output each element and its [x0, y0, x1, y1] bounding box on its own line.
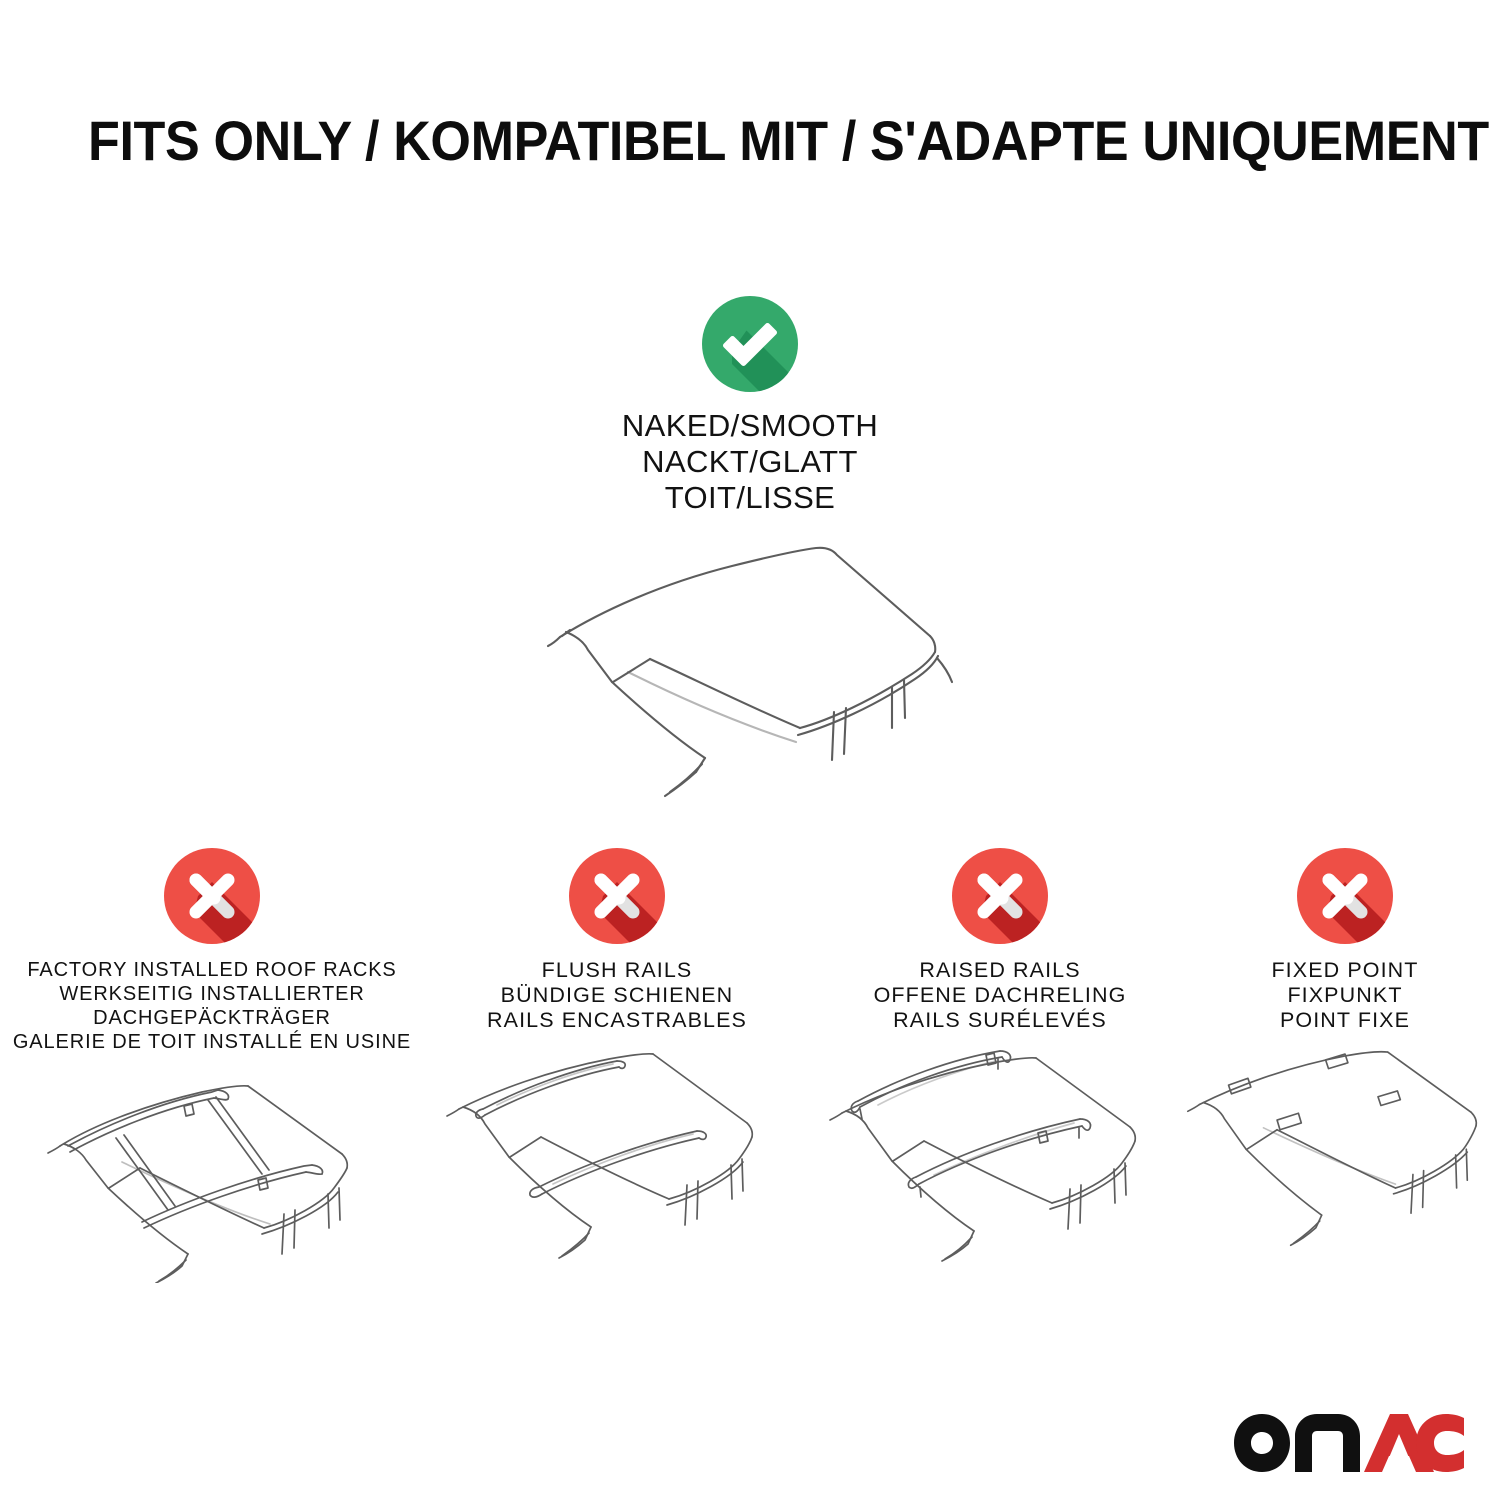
caption-line-de: BÜNDIGE SCHIENEN [487, 983, 747, 1008]
caption-line-fr: RAILS ENCASTRABLES [487, 1008, 747, 1033]
caption-line-en: FACTORY INSTALLED ROOF RACKS [13, 958, 411, 982]
car-roof-raised-rails-illustration [800, 1047, 1200, 1262]
cross-circle-icon [164, 848, 260, 944]
caption-line-en: FIXED POINT [1271, 958, 1418, 983]
approved-roof-type: NAKED/SMOOTH NACKT/GLATT TOIT/LISSE [0, 296, 1500, 812]
approved-caption: NAKED/SMOOTH NACKT/GLATT TOIT/LISSE [622, 408, 878, 516]
cross-circle-icon [952, 848, 1048, 944]
rejected-item-flush-rails: FLUSH RAILS BÜNDIGE SCHIENEN RAILS ENCAS… [424, 848, 810, 1262]
page-title: FITS ONLY / KOMPATIBEL MIT / S'ADAPTE UN… [88, 112, 1325, 170]
logo-letter-o [1234, 1414, 1290, 1472]
car-roof-naked-smooth-illustration [500, 532, 1000, 812]
caption-line-de: OFFENE DACHRELING [874, 983, 1127, 1008]
rejected-caption: FLUSH RAILS BÜNDIGE SCHIENEN RAILS ENCAS… [487, 958, 747, 1033]
caption-line-fr: GALERIE DE TOIT INSTALLÉ EN USINE [13, 1030, 411, 1054]
cross-circle-icon [1297, 848, 1393, 944]
caption-line-fr: TOIT/LISSE [622, 480, 878, 516]
check-circle-icon [702, 296, 798, 392]
caption-line-de-1: WERKSEITIG INSTALLIERTER [13, 982, 411, 1006]
caption-line-de: FIXPUNKT [1271, 983, 1418, 1008]
car-roof-flush-rails-illustration [417, 1047, 817, 1262]
omac-logo [1232, 1412, 1464, 1474]
rejected-item-raised-rails: RAISED RAILS OFFENE DACHRELING RAILS SUR… [810, 848, 1190, 1262]
logo-letter-m-notch [1320, 1440, 1335, 1472]
rejected-caption: RAISED RAILS OFFENE DACHRELING RAILS SUR… [874, 958, 1127, 1033]
caption-line-fr: RAILS SURÉLEVÉS [874, 1008, 1127, 1033]
rejected-roof-types: FACTORY INSTALLED ROOF RACKS WERKSEITIG … [0, 848, 1500, 1283]
caption-line-de: NACKT/GLATT [622, 444, 878, 480]
caption-line-en: FLUSH RAILS [487, 958, 747, 983]
car-roof-fixed-point-illustration [1180, 1047, 1500, 1262]
caption-line-en: NAKED/SMOOTH [622, 408, 878, 444]
rejected-caption: FACTORY INSTALLED ROOF RACKS WERKSEITIG … [13, 958, 411, 1054]
cross-circle-icon [569, 848, 665, 944]
rejected-item-factory-installed-roof-racks: FACTORY INSTALLED ROOF RACKS WERKSEITIG … [0, 848, 424, 1283]
caption-line-en: RAISED RAILS [874, 958, 1127, 983]
caption-line-fr: POINT FIXE [1271, 1008, 1418, 1033]
caption-line-de-2: DACHGEPÄCKTRÄGER [13, 1006, 411, 1030]
car-roof-factory-installed-roof-racks-illustration [12, 1068, 412, 1283]
rejected-item-fixed-point: FIXED POINT FIXPUNKT POINT FIXE [1190, 848, 1500, 1262]
rejected-caption: FIXED POINT FIXPUNKT POINT FIXE [1271, 958, 1418, 1033]
